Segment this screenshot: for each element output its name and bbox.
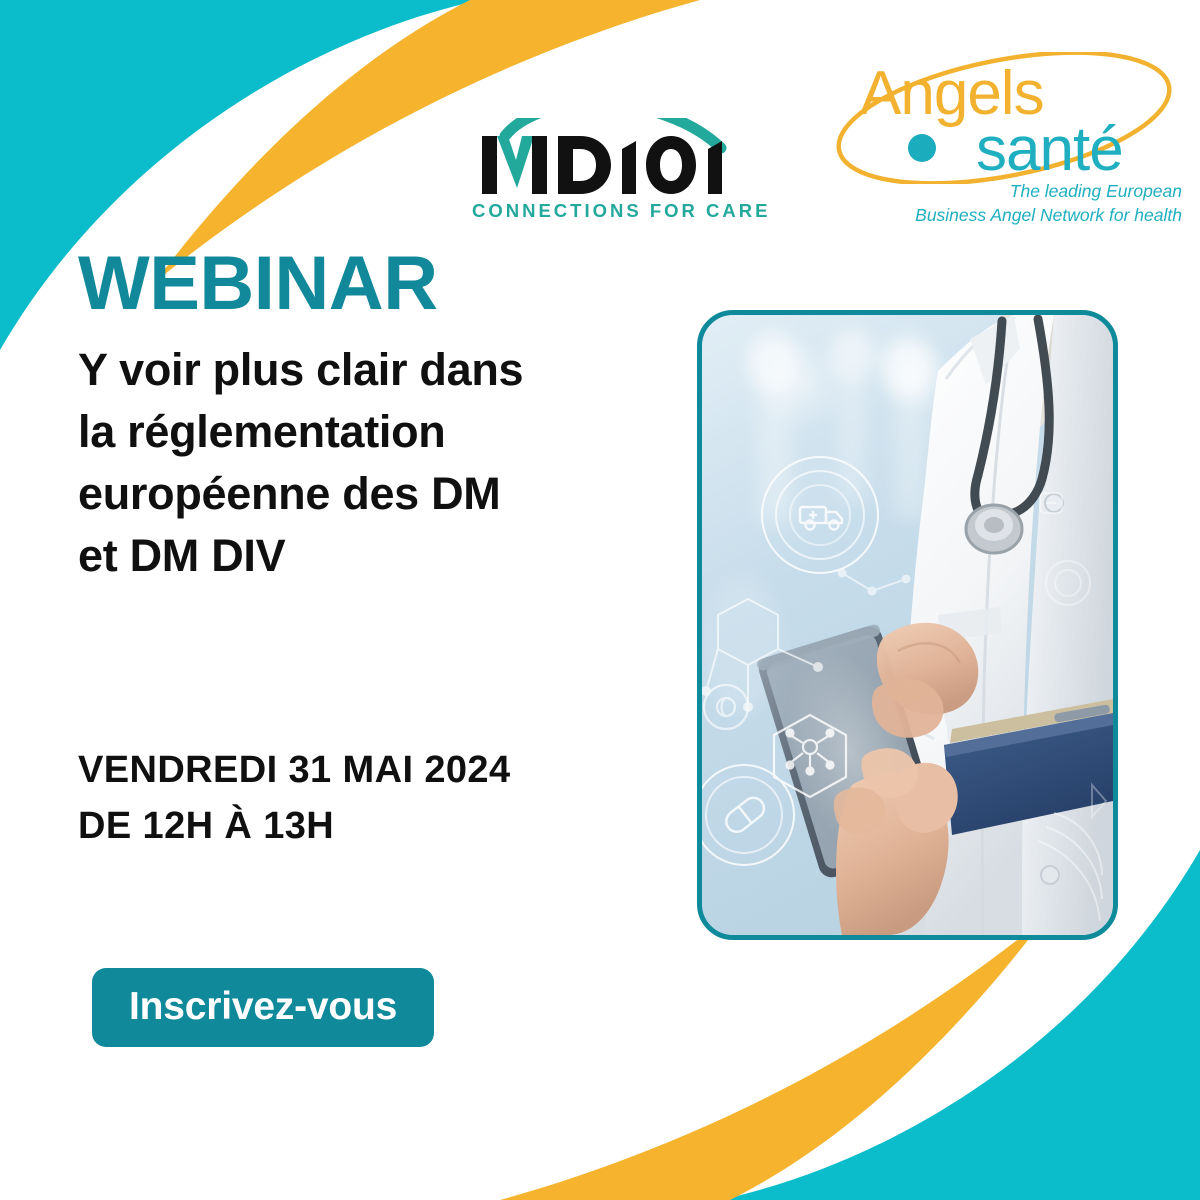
subtitle-line-1: Y voir plus clair dans	[78, 339, 638, 401]
event-datetime: VENDREDI 31 MAI 2024 DE 12H À 13H	[78, 742, 511, 854]
svg-text:santé: santé	[976, 115, 1123, 184]
event-time: DE 12H À 13H	[78, 798, 511, 854]
md101-wordmark-graphic	[472, 118, 742, 196]
angels-sante-mark-graphic: Angels santé	[826, 52, 1182, 184]
angels-tagline-line-1: The leading European	[826, 179, 1182, 203]
webinar-subtitle: Y voir plus clair dans la réglementation…	[78, 339, 638, 587]
subtitle-line-3: européenne des DM	[78, 463, 638, 525]
md101-logo: CONNECTIONS FOR CARE	[472, 70, 742, 230]
webinar-poster: CONNECTIONS FOR CARE Angels santé The le…	[0, 0, 1200, 1200]
angels-sante-logo: Angels santé The leading European Busine…	[826, 52, 1182, 242]
event-date: VENDREDI 31 MAI 2024	[78, 742, 511, 798]
angels-tagline-line-2: Business Angel Network for health	[826, 203, 1182, 227]
logo-row: CONNECTIONS FOR CARE Angels santé The le…	[0, 48, 1200, 248]
photo-image	[702, 315, 1113, 935]
subtitle-line-4: et DM DIV	[78, 525, 638, 587]
md101-tagline: CONNECTIONS FOR CARE	[472, 200, 742, 222]
bottom-right-yellow-swoosh	[500, 918, 1045, 1200]
subtitle-line-2: la réglementation	[78, 401, 638, 463]
angels-sante-tagline: The leading European Business Angel Netw…	[826, 179, 1182, 227]
photo-card	[697, 310, 1118, 940]
doctor-with-smartphone-illustration	[702, 315, 1113, 935]
register-button[interactable]: Inscrivez-vous	[92, 968, 434, 1047]
page-title: WEBINAR	[78, 243, 638, 325]
headline-block: WEBINAR Y voir plus clair dans la réglem…	[78, 243, 638, 587]
